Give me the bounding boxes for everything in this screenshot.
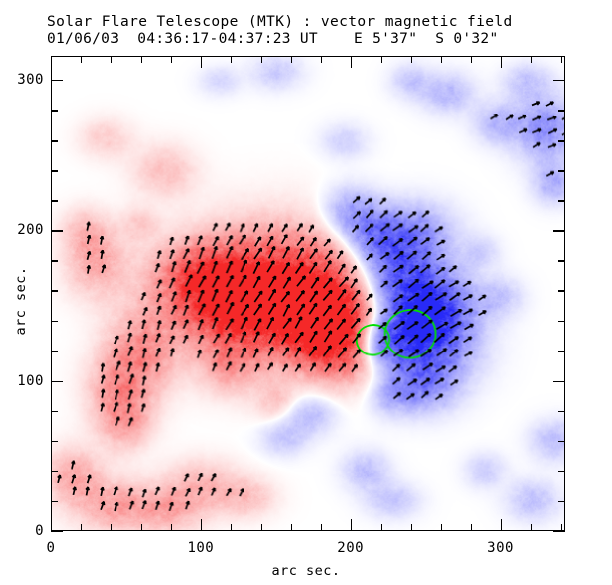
y-minor-tick xyxy=(51,200,58,201)
x-axis-tick-label: 0 xyxy=(47,540,56,556)
y-major-tick-right xyxy=(553,80,565,81)
y-minor-tick-right xyxy=(558,260,565,261)
y-axis-title: arc sec. xyxy=(13,256,29,346)
y-major-tick-right xyxy=(553,531,565,532)
y-minor-tick xyxy=(51,351,58,352)
y-minor-tick-right xyxy=(558,441,565,442)
x-minor-tick xyxy=(231,524,232,531)
y-minor-tick-right xyxy=(558,351,565,352)
x-axis-title: arc sec. xyxy=(0,563,612,579)
y-minor-tick xyxy=(51,471,58,472)
x-axis-tick-label: 100 xyxy=(187,540,214,556)
x-minor-tick xyxy=(561,524,562,531)
y-minor-tick xyxy=(51,140,58,141)
x-minor-tick-top xyxy=(111,56,112,63)
x-axis-tick-label: 200 xyxy=(337,540,364,556)
y-minor-tick-right xyxy=(558,110,565,111)
y-minor-tick-right xyxy=(558,200,565,201)
y-minor-tick xyxy=(51,260,58,261)
x-minor-tick-top xyxy=(291,56,292,63)
y-axis-tick-label: 0 xyxy=(2,523,44,539)
x-major-tick-top xyxy=(351,56,352,68)
y-minor-tick xyxy=(51,501,58,502)
x-minor-tick-top xyxy=(441,56,442,63)
x-minor-tick xyxy=(321,524,322,531)
x-minor-tick-top xyxy=(471,56,472,63)
x-major-tick-top xyxy=(501,56,502,68)
x-minor-tick-top xyxy=(231,56,232,63)
y-axis-tick-label: 200 xyxy=(2,222,44,238)
figure-title-line-1: Solar Flare Telescope (MTK) : vector mag… xyxy=(47,14,587,31)
y-major-tick xyxy=(51,381,63,382)
x-minor-tick-top xyxy=(171,56,172,63)
x-minor-tick xyxy=(411,524,412,531)
x-minor-tick-top xyxy=(531,56,532,63)
x-minor-tick xyxy=(291,524,292,531)
x-axis-tick-label: 300 xyxy=(487,540,514,556)
x-major-tick-top xyxy=(201,56,202,68)
y-axis-tick-label: 300 xyxy=(2,72,44,88)
x-minor-tick xyxy=(471,524,472,531)
magnetogram-figure: Solar Flare Telescope (MTK) : vector mag… xyxy=(0,0,612,585)
figure-title-line-2: 01/06/03 04:36:17-04:37:23 UT E 5'37" S … xyxy=(47,31,587,48)
y-minor-tick-right xyxy=(558,321,565,322)
x-major-tick xyxy=(201,519,202,531)
magnetogram-canvas-wrap xyxy=(52,57,564,530)
y-minor-tick-right xyxy=(558,170,565,171)
y-minor-tick xyxy=(51,170,58,171)
y-major-tick xyxy=(51,80,63,81)
y-major-tick xyxy=(51,230,63,231)
x-minor-tick-top xyxy=(261,56,262,63)
x-minor-tick xyxy=(441,524,442,531)
y-minor-tick xyxy=(51,441,58,442)
y-axis-tick-label: 100 xyxy=(2,373,44,389)
x-minor-tick-top xyxy=(141,56,142,63)
y-minor-tick xyxy=(51,321,58,322)
x-minor-tick-top xyxy=(411,56,412,63)
y-minor-tick-right xyxy=(558,290,565,291)
x-minor-tick xyxy=(381,524,382,531)
y-minor-tick-right xyxy=(558,140,565,141)
x-minor-tick xyxy=(531,524,532,531)
x-minor-tick-top xyxy=(561,56,562,63)
x-major-tick-top xyxy=(51,56,52,68)
x-minor-tick xyxy=(81,524,82,531)
x-minor-tick xyxy=(171,524,172,531)
figure-title-block: Solar Flare Telescope (MTK) : vector mag… xyxy=(47,14,587,48)
y-minor-tick xyxy=(51,411,58,412)
magnetogram-plot-area xyxy=(51,56,565,531)
y-minor-tick xyxy=(51,110,58,111)
x-minor-tick xyxy=(261,524,262,531)
y-minor-tick xyxy=(51,290,58,291)
x-minor-tick-top xyxy=(81,56,82,63)
magnetogram-image xyxy=(52,57,564,530)
x-minor-tick xyxy=(111,524,112,531)
x-minor-tick-top xyxy=(381,56,382,63)
x-major-tick xyxy=(501,519,502,531)
y-minor-tick-right xyxy=(558,471,565,472)
y-major-tick-right xyxy=(553,230,565,231)
y-minor-tick-right xyxy=(558,501,565,502)
y-minor-tick-right xyxy=(558,411,565,412)
x-minor-tick-top xyxy=(321,56,322,63)
y-major-tick xyxy=(51,531,63,532)
y-major-tick-right xyxy=(553,381,565,382)
x-minor-tick xyxy=(141,524,142,531)
x-major-tick xyxy=(51,519,52,531)
x-major-tick xyxy=(351,519,352,531)
